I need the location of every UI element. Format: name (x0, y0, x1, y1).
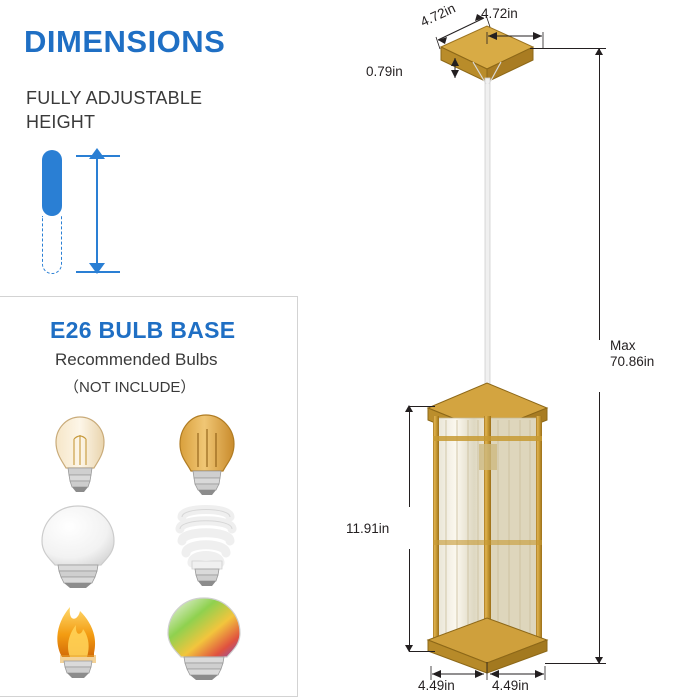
bulb-item-flame-effect (18, 593, 142, 683)
subtitle-line-2: HEIGHT (26, 110, 202, 134)
height-pill-solid-icon (42, 150, 62, 216)
bulb-item-st64-clear (18, 409, 142, 499)
rgb-color-changing-bulb-icon (146, 593, 270, 683)
flame-effect-bulb-icon (18, 593, 142, 683)
st64-amber-filament-bulb-icon (146, 409, 270, 499)
bulb-panel-subtitle: Recommended Bulbs (55, 350, 218, 370)
suspension-rod (473, 62, 501, 403)
subtitle-line-1: FULLY ADJUSTABLE (26, 86, 202, 110)
page-title: DIMENSIONS (24, 24, 225, 60)
bulb-item-spiral-cfl (146, 501, 270, 591)
bulb-base-panel: E26 BULB BASE Recommended Bulbs （NOT INC… (0, 296, 298, 697)
bulb-grid (18, 409, 280, 679)
bulb-panel-note: （NOT INCLUDE） (64, 376, 195, 397)
bulb-item-st64-amber (146, 409, 270, 499)
spiral-cfl-bulb-icon (146, 501, 270, 591)
arrow-down-icon (89, 263, 105, 274)
shade-width-left-label: 4.49in (418, 678, 455, 693)
max-height-label: Max 70.86in (610, 338, 654, 370)
a19-frosted-led-bulb-icon (18, 501, 142, 591)
product-dimension-diagram: 4.72in 4.72in 0.79in (340, 0, 679, 697)
height-pill-dashed-icon (42, 216, 62, 274)
crystal-shade (428, 383, 547, 673)
shade-height-extension-top (409, 406, 435, 407)
shade-height-extension-bottom (409, 651, 435, 652)
shade-width-right-label: 4.49in (492, 678, 529, 693)
shade-height-label: 11.91in (346, 521, 389, 536)
bulb-panel-title: E26 BULB BASE (50, 317, 235, 344)
canopy-width-right-label: 4.72in (481, 6, 518, 21)
max-height-line-upper (599, 48, 600, 340)
max-height-label-line2: 70.86in (610, 354, 654, 370)
max-height-line-lower (599, 392, 600, 664)
shade-height-line-upper (409, 407, 410, 507)
arrow-up-icon (89, 148, 105, 159)
max-height-extension-top (530, 48, 606, 49)
bulb-item-a19-led (18, 501, 142, 591)
fully-adjustable-height-label: FULLY ADJUSTABLE HEIGHT (26, 86, 202, 134)
max-height-label-line1: Max (610, 338, 654, 354)
dimensions-infographic: DIMENSIONS FULLY ADJUSTABLE HEIGHT E26 B… (0, 0, 679, 697)
height-arrow-line (96, 156, 98, 268)
adjustable-height-icon (36, 150, 146, 278)
canopy-height-label: 0.79in (366, 64, 403, 79)
shade-height-line-lower (409, 549, 410, 652)
st64-clear-filament-bulb-icon (18, 409, 142, 499)
max-height-arrow-top (595, 48, 603, 55)
bulb-item-rgb (146, 593, 270, 683)
